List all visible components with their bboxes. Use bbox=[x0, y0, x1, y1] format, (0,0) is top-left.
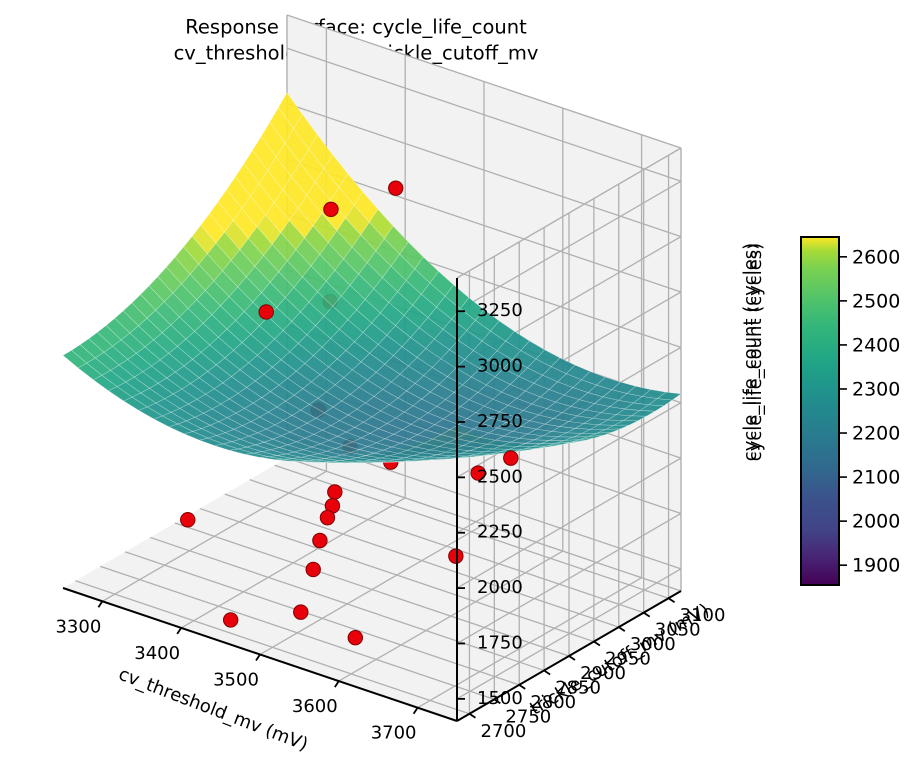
z-tick-label: 3250 bbox=[477, 300, 523, 321]
scatter-point bbox=[504, 451, 518, 465]
scatter-point bbox=[320, 510, 334, 524]
scatter-point bbox=[294, 605, 308, 619]
x-tick-label: 3300 bbox=[55, 616, 101, 637]
x-tick-label: 3500 bbox=[213, 670, 259, 691]
colorbar-tick-label: 1900 bbox=[852, 555, 900, 577]
z-tick-label: 2750 bbox=[477, 411, 523, 432]
colorbar-tick-label: 2600 bbox=[852, 246, 900, 268]
z-tick-label: 2250 bbox=[477, 522, 523, 543]
scatter-point bbox=[313, 533, 327, 547]
z-tick-label: 1500 bbox=[477, 688, 523, 709]
figure-canvas: Response Surface: cycle_life_count cv_th… bbox=[0, 0, 922, 766]
scatter-point bbox=[324, 202, 338, 216]
x-tick-label: 3700 bbox=[371, 723, 417, 744]
scatter-point bbox=[259, 305, 273, 319]
x-tick-label: 3600 bbox=[292, 696, 338, 717]
scatter-point bbox=[181, 513, 195, 527]
colorbar-gradient bbox=[801, 237, 839, 585]
colorbar-tick-label: 2400 bbox=[852, 334, 900, 356]
colorbar-tick-label: 2300 bbox=[852, 378, 900, 400]
response-surface-3d-plot: Response Surface: cycle_life_count cv_th… bbox=[0, 0, 922, 766]
colorbar-tick-label: 2100 bbox=[852, 467, 900, 489]
colorbar-tick-label: 2200 bbox=[852, 423, 900, 445]
scatter-point bbox=[306, 562, 320, 576]
z-tick-label: 2500 bbox=[477, 466, 523, 487]
colorbar-tick-label: 2000 bbox=[852, 511, 900, 533]
colorbar-tick-label: 2500 bbox=[852, 290, 900, 312]
scatter-point bbox=[348, 631, 362, 645]
colorbar-label: cycle_life_count (cycles) bbox=[740, 243, 761, 461]
z-tick-label: 1750 bbox=[477, 632, 523, 653]
scatter-point bbox=[223, 613, 237, 627]
z-tick-label: 2000 bbox=[477, 577, 523, 598]
scatter-point bbox=[389, 181, 403, 195]
chart-title-line1: Response Surface: cycle_life_count bbox=[185, 16, 527, 39]
scatter-point bbox=[328, 485, 342, 499]
scatter-point bbox=[449, 549, 463, 563]
z-tick-label: 3000 bbox=[477, 356, 523, 377]
x-tick-label: 3400 bbox=[134, 643, 180, 664]
